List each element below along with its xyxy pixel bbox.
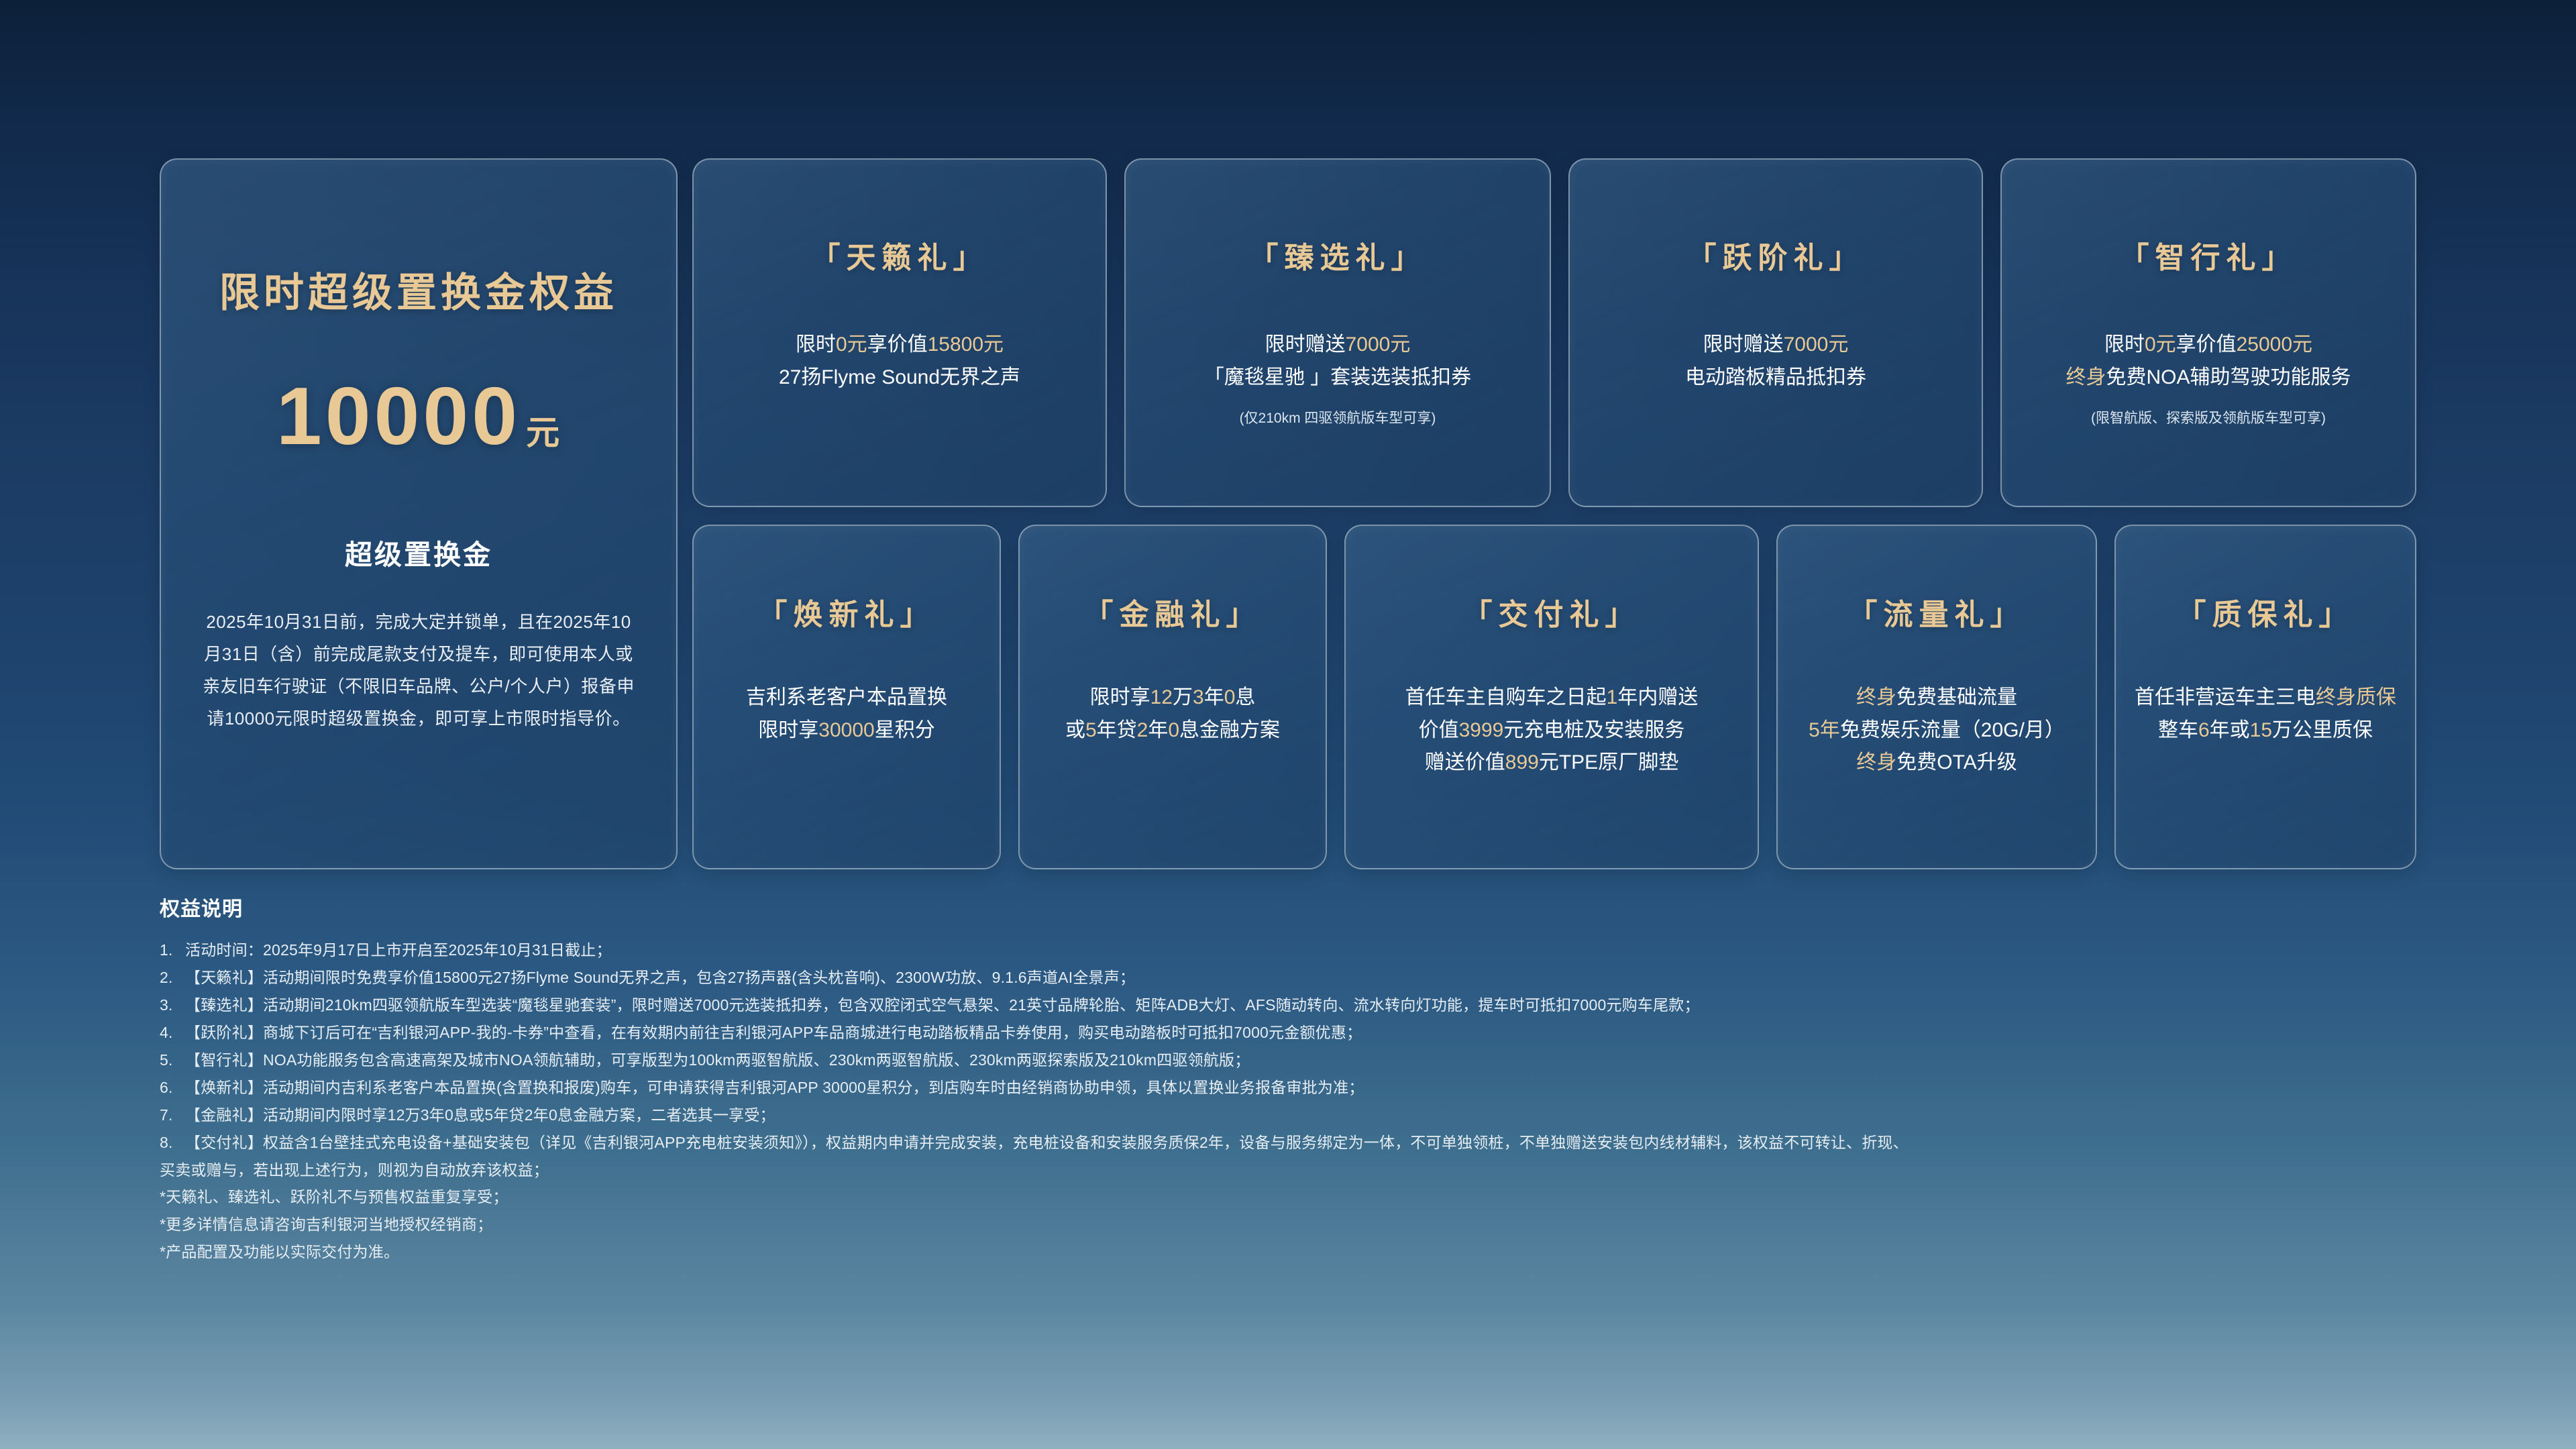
highlight-text: 3999 bbox=[1459, 719, 1504, 741]
highlight-text: 15 bbox=[2250, 719, 2272, 741]
hero-subtitle: 超级置换金 bbox=[199, 532, 639, 572]
note-index: 3. bbox=[160, 991, 185, 1019]
highlight-text: 2 bbox=[1137, 719, 1148, 741]
highlight-text: 0元 bbox=[836, 333, 867, 356]
plain-text: 免费娱乐流量（20G/月） bbox=[1840, 719, 2065, 741]
plain-text: 限时赠送 bbox=[1265, 333, 1346, 356]
gift-card-line: 电动踏板精品抵扣券 bbox=[1570, 362, 1982, 394]
plain-text: 价值 bbox=[1419, 719, 1459, 741]
benefit-notes: 权益说明 1.活动时间：2025年9月17日上市开启至2025年10月31日截止… bbox=[160, 892, 2454, 1266]
gift-card-line: 「魔毯星驰 」套装选装抵扣券 bbox=[1126, 362, 1550, 394]
plain-text: 免费OTA升级 bbox=[1896, 751, 2017, 773]
note-text: 【交付礼】权益含1台壁挂式充电设备+基础安装包（详见《吉利银河APP充电桩安装须… bbox=[185, 1134, 1909, 1151]
gift-card-title: 「焕新礼」 bbox=[694, 590, 1000, 633]
gift-card-lines: 限时赠送7000元「魔毯星驰 」套装选装抵扣券 bbox=[1126, 329, 1550, 394]
gift-card-lines: 限时赠送7000元电动踏板精品抵扣券 bbox=[1570, 329, 1982, 394]
highlight-text: 6 bbox=[2198, 719, 2210, 741]
hero-title: 限时超级置换金权益 bbox=[199, 260, 639, 319]
plain-text: 息金融方案 bbox=[1179, 719, 1280, 741]
note-asterisk: *天籁礼、臻选礼、跃阶礼不与预售权益重复享受； bbox=[160, 1183, 2454, 1211]
highlight-text: 25000元 bbox=[2237, 333, 2312, 356]
plain-text: 首任非营运车主三电 bbox=[2135, 686, 2316, 708]
highlight-text: 12 bbox=[1150, 686, 1173, 708]
note-text: 活动时间：2025年9月17日上市开启至2025年10月31日截止； bbox=[185, 941, 612, 959]
hero-amount-unit: 元 bbox=[526, 414, 561, 451]
note-index: 2. bbox=[160, 964, 185, 991]
plain-text: 免费基础流量 bbox=[1896, 686, 2017, 708]
note-asterisk: *更多详情信息请咨询吉利银河当地授权经销商； bbox=[160, 1211, 2454, 1238]
plain-text: 元充电桩及安装服务 bbox=[1503, 719, 1684, 741]
plain-text: 万公里质保 bbox=[2272, 719, 2373, 741]
notes-title: 权益说明 bbox=[160, 892, 2454, 922]
highlight-text: 终身 bbox=[1856, 751, 1896, 773]
gift-card-line: 赠送价值899元TPE原厂脚垫 bbox=[1346, 747, 1758, 780]
plain-text: 星积分 bbox=[875, 719, 935, 741]
plain-text: 年或 bbox=[2210, 719, 2250, 741]
note-text: 【焕新礼】活动期间内吉利系老客户本品置换(含置换和报废)购车，可申请获得吉利银河… bbox=[185, 1079, 1364, 1096]
plain-text: 电动踏板精品抵扣券 bbox=[1685, 366, 1866, 388]
gift-card-title: 「智行礼」 bbox=[2002, 233, 2415, 276]
gift-card-title: 「质保礼」 bbox=[2116, 590, 2415, 633]
plain-text: 万 bbox=[1173, 686, 1193, 708]
gift-card-note: (仅210km 四驱领航版车型可享) bbox=[1126, 407, 1550, 427]
gift-card-yuejie: 「跃阶礼」限时赠送7000元电动踏板精品抵扣券 bbox=[1568, 158, 1983, 507]
highlight-text: 5 bbox=[1085, 719, 1097, 741]
plain-text: 「魔毯星驰 」套装选装抵扣券 bbox=[1204, 366, 1471, 388]
gift-card-zhibao: 「质保礼」首任非营运车主三电终身质保整车6年或15万公里质保 bbox=[2114, 525, 2416, 869]
gift-card-line: 或5年贷2年0息金融方案 bbox=[1020, 714, 1326, 747]
gift-card-lines: 限时0元享价值25000元终身免费NOA辅助驾驶功能服务 bbox=[2002, 329, 2415, 394]
highlight-text: 5年 bbox=[1809, 719, 1840, 741]
note-index: 5. bbox=[160, 1046, 185, 1074]
hero-amount: 10000元 bbox=[199, 375, 639, 457]
gift-card-title: 「流量礼」 bbox=[1778, 590, 2096, 633]
note-text: 【金融礼】活动期间内限时享12万3年0息或5年贷2年0息金融方案，二者选其一享受… bbox=[185, 1106, 775, 1124]
note-item: 2.【天籁礼】活动期间限时免费享价值15800元27扬Flyme Sound无界… bbox=[160, 964, 2454, 991]
note-item: 5.【智行礼】NOA功能服务包含高速高架及城市NOA领航辅助，可享版型为100k… bbox=[160, 1046, 2454, 1074]
note-asterisk: *产品配置及功能以实际交付为准。 bbox=[160, 1238, 2454, 1266]
promo-poster: 限时超级置换金权益 10000元 超级置换金 2025年10月31日前，完成大定… bbox=[0, 0, 2576, 1449]
gift-card-line: 限时0元享价值15800元 bbox=[694, 329, 1106, 362]
hero-card-super-trade-in: 限时超级置换金权益 10000元 超级置换金 2025年10月31日前，完成大定… bbox=[160, 158, 678, 869]
note-text: 【跃阶礼】商城下订后可在“吉利银河APP-我的-卡券”中查看，在有效期内前往吉利… bbox=[185, 1024, 1362, 1041]
gift-card-title: 「臻选礼」 bbox=[1126, 233, 1550, 276]
gift-card-line: 终身免费NOA辅助驾驶功能服务 bbox=[2002, 362, 2415, 394]
gift-card-huanxin: 「焕新礼」吉利系老客户本品置换限时享30000星积分 bbox=[692, 525, 1001, 869]
plain-text: 首任车主自购车之日起 bbox=[1405, 686, 1607, 708]
note-index: 7. bbox=[160, 1102, 185, 1129]
gift-card-note: (限智航版、探索版及领航版车型可享) bbox=[2002, 407, 2415, 427]
gift-card-zhenxuan: 「臻选礼」限时赠送7000元「魔毯星驰 」套装选装抵扣券(仅210km 四驱领航… bbox=[1124, 158, 1551, 507]
plain-text: 吉利系老客户本品置换 bbox=[746, 686, 947, 708]
plain-text: 享价值 bbox=[867, 333, 928, 356]
note-index: 1. bbox=[160, 936, 185, 964]
gift-card-line: 首任车主自购车之日起1年内赠送 bbox=[1346, 682, 1758, 714]
note-item: 8.【交付礼】权益含1台壁挂式充电设备+基础安装包（详见《吉利银河APP充电桩安… bbox=[160, 1129, 2454, 1157]
highlight-text: 0元 bbox=[2145, 333, 2176, 356]
note-item: 7.【金融礼】活动期间内限时享12万3年0息或5年贷2年0息金融方案，二者选其一… bbox=[160, 1102, 2454, 1129]
gift-card-jiaofu: 「交付礼」首任车主自购车之日起1年内赠送价值3999元充电桩及安装服务赠送价值8… bbox=[1344, 525, 1759, 869]
gift-card-line: 27扬Flyme Sound无界之声 bbox=[694, 362, 1106, 394]
highlight-text: 1 bbox=[1607, 686, 1618, 708]
gift-card-title: 「交付礼」 bbox=[1346, 590, 1758, 633]
gift-card-line: 限时赠送7000元 bbox=[1570, 329, 1982, 362]
highlight-text: 7000元 bbox=[1346, 333, 1411, 356]
note-item: 3.【臻选礼】活动期间210km四驱领航版车型选装“魔毯星驰套装”，限时赠送70… bbox=[160, 991, 2454, 1019]
gift-card-title: 「天籁礼」 bbox=[694, 233, 1106, 276]
gift-card-line: 限时0元享价值25000元 bbox=[2002, 329, 2415, 362]
gift-card-line: 整车6年或15万公里质保 bbox=[2116, 714, 2415, 747]
gift-card-zhixing: 「智行礼」限时0元享价值25000元终身免费NOA辅助驾驶功能服务(限智航版、探… bbox=[2000, 158, 2416, 507]
notes-list: 1.活动时间：2025年9月17日上市开启至2025年10月31日截止；2.【天… bbox=[160, 936, 2454, 1266]
plain-text: 年内赠送 bbox=[1617, 686, 1698, 708]
highlight-text: 终身 bbox=[2065, 366, 2106, 388]
plain-text: 27扬Flyme Sound无界之声 bbox=[779, 366, 1020, 388]
note-index: 4. bbox=[160, 1019, 185, 1046]
plain-text: 享价值 bbox=[2176, 333, 2237, 356]
gift-card-line: 限时享12万3年0息 bbox=[1020, 682, 1326, 714]
gift-card-tianlai: 「天籁礼」限时0元享价值15800元27扬Flyme Sound无界之声 bbox=[692, 158, 1107, 507]
gift-card-liuliang: 「流量礼」终身免费基础流量5年免费娱乐流量（20G/月）终身免费OTA升级 bbox=[1776, 525, 2097, 869]
note-text: 【臻选礼】活动期间210km四驱领航版车型选装“魔毯星驰套装”，限时赠送7000… bbox=[185, 996, 1700, 1014]
plain-text: 息 bbox=[1235, 686, 1255, 708]
highlight-text: 终身 bbox=[1856, 686, 1896, 708]
gift-card-line: 限时享30000星积分 bbox=[694, 714, 1000, 747]
note-item: 6.【焕新礼】活动期间内吉利系老客户本品置换(含置换和报废)购车，可申请获得吉利… bbox=[160, 1074, 2454, 1102]
gift-card-line: 吉利系老客户本品置换 bbox=[694, 682, 1000, 714]
plain-text: 年 bbox=[1204, 686, 1224, 708]
highlight-text: 3 bbox=[1193, 686, 1204, 708]
plain-text: 限时享 bbox=[1090, 686, 1150, 708]
gift-card-line: 终身免费OTA升级 bbox=[1778, 747, 2096, 780]
highlight-text: 0 bbox=[1224, 686, 1236, 708]
plain-text: 限时赠送 bbox=[1703, 333, 1784, 356]
highlight-text: 0 bbox=[1168, 719, 1179, 741]
plain-text: 年 bbox=[1148, 719, 1168, 741]
gift-card-lines: 首任车主自购车之日起1年内赠送价值3999元充电桩及安装服务赠送价值899元TP… bbox=[1346, 682, 1758, 780]
plain-text: 限时 bbox=[2104, 333, 2145, 356]
gift-card-title: 「跃阶礼」 bbox=[1570, 233, 1982, 276]
gift-card-line: 限时赠送7000元 bbox=[1126, 329, 1550, 362]
plain-text: 年贷 bbox=[1097, 719, 1137, 741]
plain-text: 限时享 bbox=[758, 719, 818, 741]
note-index: 6. bbox=[160, 1074, 185, 1102]
gift-card-lines: 终身免费基础流量5年免费娱乐流量（20G/月）终身免费OTA升级 bbox=[1778, 682, 2096, 780]
gift-card-line: 首任非营运车主三电终身质保 bbox=[2116, 682, 2415, 714]
note-text: 【智行礼】NOA功能服务包含高速高架及城市NOA领航辅助，可享版型为100km两… bbox=[185, 1051, 1250, 1069]
highlight-text: 终身质保 bbox=[2316, 686, 2396, 708]
note-index: 8. bbox=[160, 1129, 185, 1157]
gift-card-title: 「金融礼」 bbox=[1020, 590, 1326, 633]
plain-text: 元TPE原厂脚垫 bbox=[1539, 751, 1678, 773]
plain-text: 限时 bbox=[796, 333, 836, 356]
note-text: 【天籁礼】活动期间限时免费享价值15800元27扬Flyme Sound无界之声… bbox=[185, 969, 1135, 986]
highlight-text: 15800元 bbox=[928, 333, 1004, 356]
gift-card-line: 5年免费娱乐流量（20G/月） bbox=[1778, 714, 2096, 747]
plain-text: 整车 bbox=[2158, 719, 2198, 741]
gift-card-lines: 吉利系老客户本品置换限时享30000星积分 bbox=[694, 682, 1000, 747]
gift-card-line: 价值3999元充电桩及安装服务 bbox=[1346, 714, 1758, 747]
gift-card-lines: 首任非营运车主三电终身质保整车6年或15万公里质保 bbox=[2116, 682, 2415, 747]
highlight-text: 30000 bbox=[818, 719, 874, 741]
hero-description: 2025年10月31日前，完成大定并锁单，且在2025年10月31日（含）前完成… bbox=[199, 606, 639, 735]
highlight-text: 899 bbox=[1505, 751, 1539, 773]
gift-card-lines: 限时0元享价值15800元27扬Flyme Sound无界之声 bbox=[694, 329, 1106, 394]
gift-card-line: 终身免费基础流量 bbox=[1778, 682, 2096, 714]
gift-card-jinrong: 「金融礼」限时享12万3年0息或5年贷2年0息金融方案 bbox=[1018, 525, 1327, 869]
plain-text: 或 bbox=[1065, 719, 1085, 741]
note-item: 4.【跃阶礼】商城下订后可在“吉利银河APP-我的-卡券”中查看，在有效期内前往… bbox=[160, 1019, 2454, 1046]
plain-text: 免费NOA辅助驾驶功能服务 bbox=[2106, 366, 2351, 388]
gift-card-lines: 限时享12万3年0息或5年贷2年0息金融方案 bbox=[1020, 682, 1326, 747]
note-item: 1.活动时间：2025年9月17日上市开启至2025年10月31日截止； bbox=[160, 936, 2454, 964]
hero-amount-value: 10000 bbox=[276, 370, 521, 462]
note-continuation: 买卖或赠与，若出现上述行为，则视为自动放弃该权益； bbox=[160, 1157, 2454, 1184]
plain-text: 赠送价值 bbox=[1425, 751, 1505, 773]
highlight-text: 7000元 bbox=[1784, 333, 1849, 356]
